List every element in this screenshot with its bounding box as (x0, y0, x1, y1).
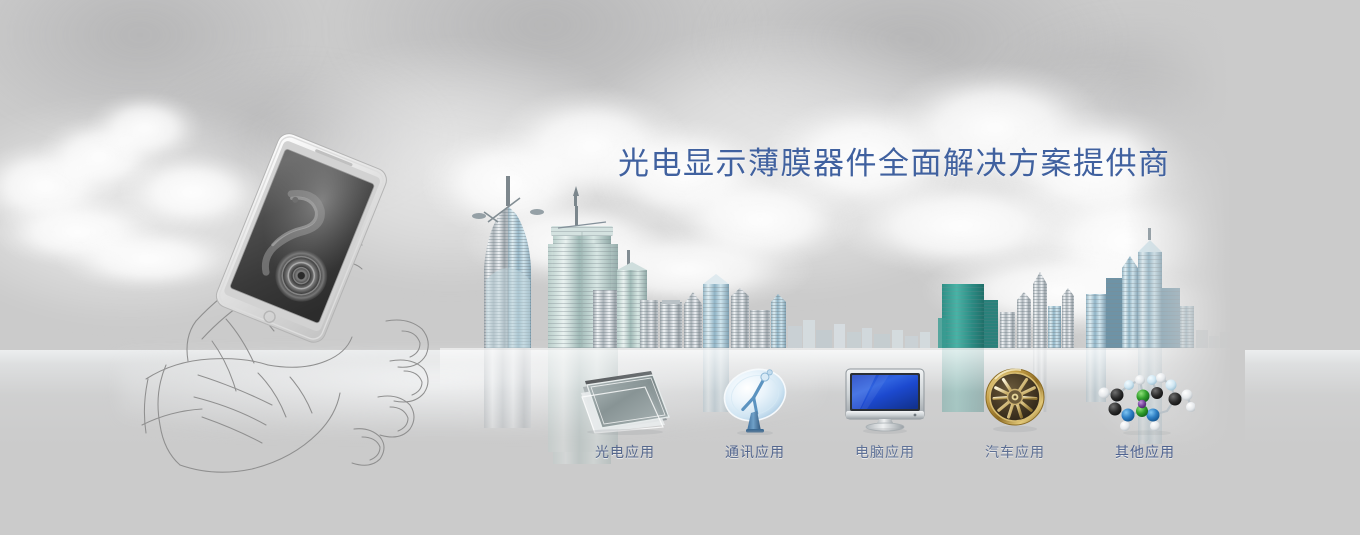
application-item-computer[interactable]: 电脑应用 (820, 352, 950, 462)
optical-film-panels-icon (575, 363, 675, 435)
application-item-communication[interactable]: 通讯应用 (690, 352, 820, 462)
application-list: 光电应用 (560, 352, 1210, 462)
computer-monitor-icon (835, 363, 935, 435)
satellite-dish-icon (705, 363, 805, 435)
tower-group-b (660, 274, 786, 348)
application-item-other[interactable]: 其他应用 (1080, 352, 1210, 462)
smartphone-icon (213, 130, 390, 346)
application-label: 光电应用 (595, 442, 655, 462)
sail-tower (472, 176, 544, 348)
hand-holding-phone-line-drawing (140, 125, 470, 485)
application-item-optical[interactable]: 光电应用 (560, 352, 690, 462)
application-item-automotive[interactable]: 汽车应用 (950, 352, 1080, 462)
teal-tower (938, 284, 998, 348)
application-label: 汽车应用 (985, 442, 1045, 462)
application-label: 电脑应用 (855, 442, 915, 462)
molecule-model-icon (1095, 363, 1195, 435)
application-label: 通讯应用 (725, 442, 785, 462)
application-label: 其他应用 (1115, 442, 1175, 462)
hero-banner: 光电显示薄膜器件全面解决方案提供商 (0, 0, 1360, 535)
page-title: 光电显示薄膜器件全面解决方案提供商 (618, 138, 1171, 183)
car-wheel-rim-icon (965, 363, 1065, 435)
low-rise-mid (788, 320, 930, 348)
tower-group-c (1000, 272, 1074, 348)
